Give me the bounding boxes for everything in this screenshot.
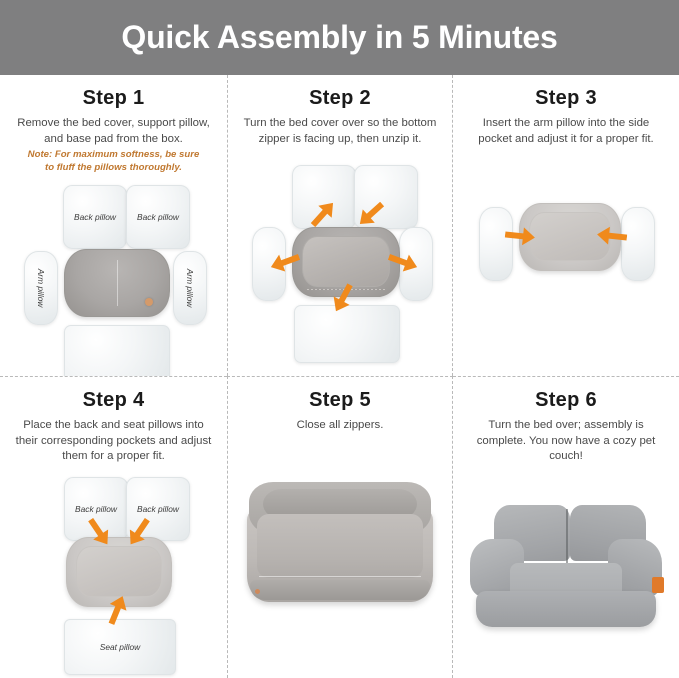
step-1-title: Step 1 [8, 87, 219, 110]
couch-back-split [566, 509, 568, 563]
arrow-insert-left-icon [504, 226, 536, 247]
brand-tag-icon [145, 298, 153, 306]
arrow-insert-right-icon [596, 226, 628, 247]
finished-pet-couch [466, 505, 666, 629]
step-3-illustration [461, 187, 671, 376]
back-pillow-left: Back pillow [63, 185, 127, 249]
bed-seam [259, 576, 421, 577]
couch-base [476, 591, 656, 627]
step-1-note: Note: For maximum softness, be sure to f… [8, 147, 219, 174]
page-title: Quick Assembly in 5 Minutes [121, 19, 557, 56]
bed-front-face [257, 514, 423, 578]
arm-pillow-left [479, 207, 513, 281]
step-2-illustration [236, 165, 444, 373]
step-3-title: Step 3 [461, 87, 671, 110]
back-pillow-right: Back pillow [126, 185, 190, 249]
seat-pillow: Seat pillow [64, 619, 176, 675]
step-cell-2: Step 2 Turn the bed cover over so the bo… [227, 75, 453, 376]
step-4-illustration: Back pillow Back pillow Seat pillow [8, 477, 219, 678]
bed-cover [64, 249, 170, 317]
step-4-title: Step 4 [8, 389, 219, 412]
header-banner: Quick Assembly in 5 Minutes [0, 0, 679, 75]
cover-inner-panel [76, 546, 162, 597]
step-3-description: Insert the arm pillow into the side pock… [461, 116, 671, 147]
cover-seam [117, 260, 118, 306]
assembly-instruction-page: Quick Assembly in 5 Minutes Step 1 Remov… [0, 0, 679, 678]
arm-pillow-right-label: Arm pillow [185, 268, 195, 307]
assembled-bed-upside-down [247, 482, 433, 602]
brand-tag-icon [255, 589, 260, 594]
step-5-illustration [236, 468, 444, 676]
arm-pillow-right: Arm pillow [173, 251, 207, 325]
bed-foot [250, 580, 430, 600]
steps-grid: Step 1 Remove the bed cover, support pil… [0, 75, 679, 678]
back-pillow-left-label: Back pillow [64, 212, 126, 222]
step-cell-4: Step 4 Place the back and seat pillows i… [0, 376, 227, 678]
step-6-description: Turn the bed over; assembly is complete.… [461, 418, 671, 465]
back-pillow-left-label: Back pillow [65, 504, 127, 514]
step-4-description: Place the back and seat pillows into the… [8, 418, 219, 465]
step-5-title: Step 5 [236, 389, 444, 412]
arm-pillow-left: Arm pillow [24, 251, 58, 325]
step-6-title: Step 6 [461, 389, 671, 412]
base-pad [294, 305, 400, 363]
step-cell-6: Step 6 Turn the bed over; assembly is co… [453, 376, 679, 678]
step-cell-3: Step 3 Insert the arm pillow into the si… [453, 75, 679, 376]
step-cell-1: Step 1 Remove the bed cover, support pil… [0, 75, 227, 376]
back-pillow-right-label: Back pillow [127, 504, 189, 514]
brand-tag-icon [652, 577, 664, 593]
cover-inner-panel [302, 236, 390, 287]
back-pillow-right-label: Back pillow [127, 212, 189, 222]
step-cell-5: Step 5 Close all zippers. [227, 376, 453, 678]
seat-pillow-label: Seat pillow [65, 642, 175, 652]
step-1-illustration: Back pillow Back pillow Arm pillow Arm p… [8, 181, 219, 376]
step-2-title: Step 2 [236, 87, 444, 110]
step-1-description: Remove the bed cover, support pillow, an… [8, 116, 219, 147]
arm-pillow-left-label: Arm pillow [36, 268, 46, 307]
step-6-illustration [461, 489, 671, 678]
step-5-description: Close all zippers. [236, 418, 444, 434]
base-pad [64, 325, 170, 376]
step-2-description: Turn the bed cover over so the bottom zi… [236, 116, 444, 147]
